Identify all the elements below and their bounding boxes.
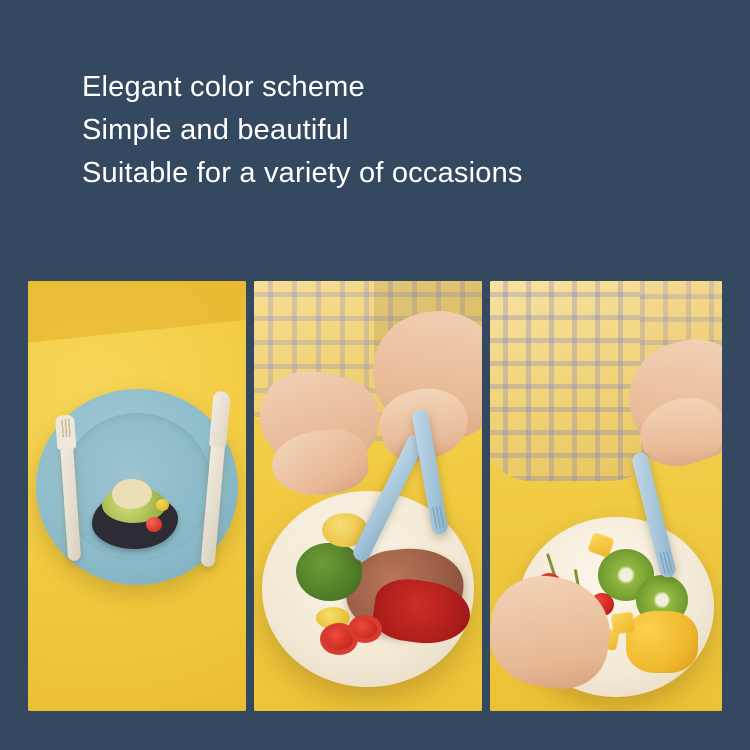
product-banner: Elegant color scheme Simple and beautifu… <box>0 0 750 750</box>
mango-cube-2 <box>611 612 636 635</box>
headline-line-3: Suitable for a variety of occasions <box>82 152 682 195</box>
photo-steak-plate-with-hands <box>254 281 482 711</box>
diced-mango-pile <box>626 611 698 673</box>
photo-fruit-plate-with-fork <box>490 281 722 711</box>
photo-blue-plate-on-yellow-table <box>28 281 246 711</box>
cherry-tomato-red <box>146 517 162 532</box>
headline-line-1: Elegant color scheme <box>82 66 682 109</box>
photo-strip <box>28 281 722 711</box>
headline-line-2: Simple and beautiful <box>82 109 682 152</box>
red-pepper-ring-2 <box>348 615 382 643</box>
cherry-tomato-yellow <box>156 499 169 511</box>
headline-block: Elegant color scheme Simple and beautifu… <box>82 66 682 195</box>
